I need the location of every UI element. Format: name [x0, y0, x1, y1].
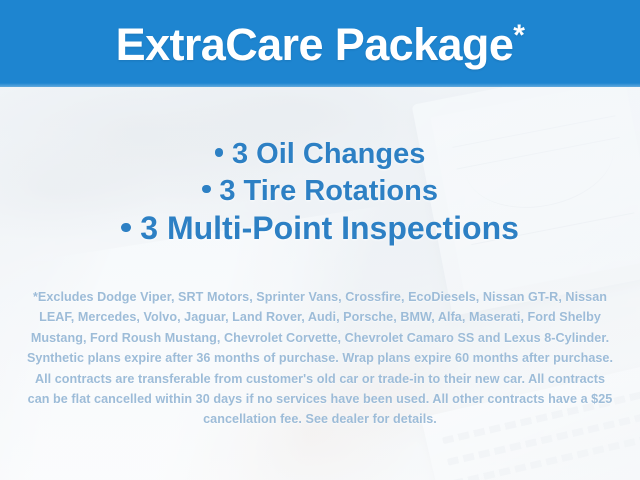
ad-content: 3 Oil Changes 3 Tire Rotations 3 Multi-P… — [0, 87, 640, 480]
extracare-package-ad: ExtraCare Package* 3 Oil Changes 3 Tire … — [0, 0, 640, 480]
benefit-label: 3 Multi-Point Inspections — [140, 210, 519, 246]
header-banner: ExtraCare Package* — [0, 0, 640, 87]
page-title-text: ExtraCare Package — [116, 19, 514, 70]
benefit-label: 3 Oil Changes — [232, 138, 425, 170]
benefits-list: 3 Oil Changes 3 Tire Rotations 3 Multi-P… — [0, 139, 640, 246]
disclaimer-text: *Excludes Dodge Viper, SRT Motors, Sprin… — [26, 287, 614, 430]
list-item: 3 Tire Rotations — [0, 176, 640, 207]
banner-bottom-highlight — [0, 83, 640, 87]
bullet-icon — [121, 223, 131, 233]
page-title-asterisk: * — [513, 19, 524, 52]
list-item: 3 Oil Changes — [0, 139, 640, 170]
bullet-icon — [215, 148, 224, 157]
bullet-icon — [202, 185, 211, 194]
page-title: ExtraCare Package* — [116, 22, 525, 67]
benefit-label: 3 Tire Rotations — [219, 175, 438, 207]
list-item: 3 Multi-Point Inspections — [0, 212, 640, 246]
